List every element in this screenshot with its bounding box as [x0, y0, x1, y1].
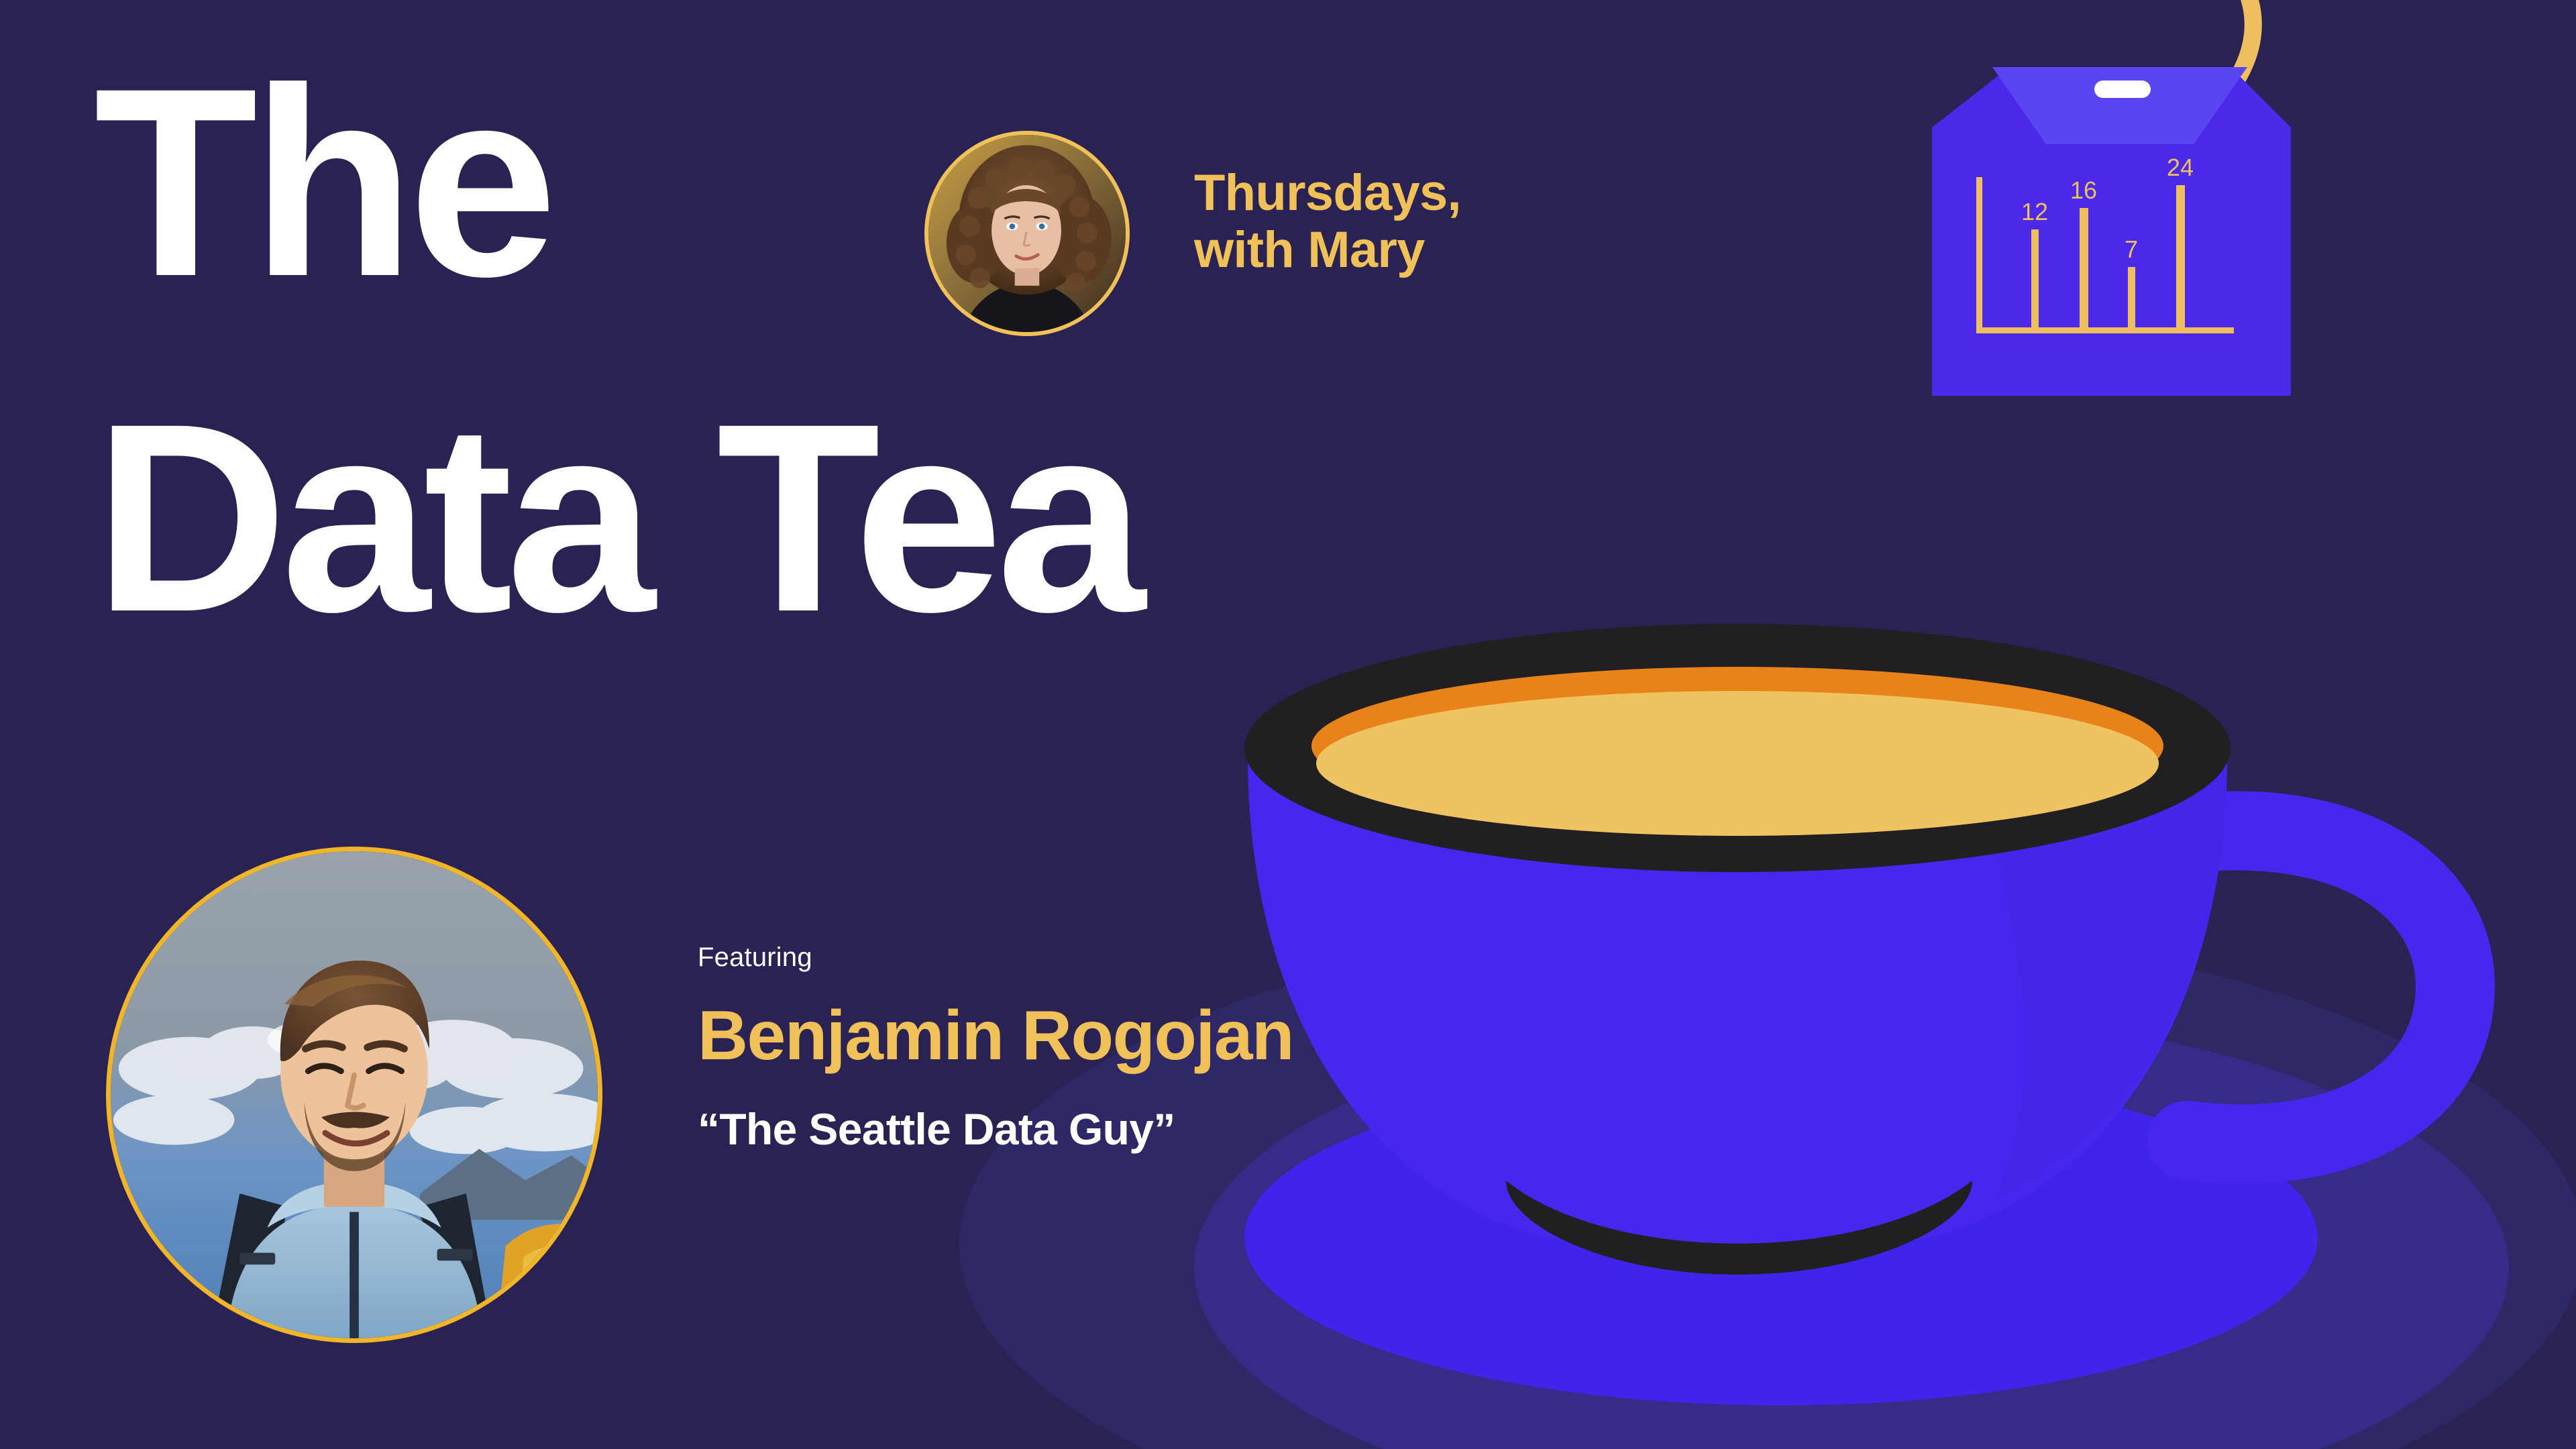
host-avatar[interactable] — [924, 131, 1130, 336]
guest-tagline: “The Seattle Data Guy” — [698, 1104, 1175, 1155]
guest-name: Benjamin Rogojan — [698, 996, 1293, 1076]
chart-x-axis — [1976, 327, 2234, 333]
tea-surface — [1316, 691, 2159, 836]
teacup-icon — [1140, 604, 2576, 1449]
promo-graphic-canvas: 12 16 7 24 — [0, 0, 2576, 1449]
teabag-staple-icon — [2094, 80, 2151, 98]
guest-avatar[interactable] — [106, 847, 602, 1343]
guest-avatar-photo — [111, 851, 598, 1338]
page-title-line-1: The — [94, 67, 551, 298]
chart-bar-label: 7 — [2125, 235, 2138, 263]
chart-bar — [2031, 229, 2039, 329]
host-schedule-text: Thursdays, with Mary — [1194, 164, 1461, 278]
chart-bar-label: 12 — [2021, 198, 2048, 225]
chart-bar — [2176, 185, 2185, 329]
featuring-label: Featuring — [698, 943, 812, 973]
chart-bar-label: 24 — [2167, 154, 2194, 181]
teabag-icon: 12 16 7 24 — [1912, 0, 2328, 597]
host-avatar-photo — [928, 135, 1126, 332]
chart-bar — [2080, 208, 2088, 329]
chart-y-axis — [1976, 177, 1982, 333]
chart-bar — [2128, 267, 2135, 329]
page-title-line-2: Data Tea — [94, 402, 1139, 633]
chart-bar-label: 16 — [2070, 176, 2097, 204]
